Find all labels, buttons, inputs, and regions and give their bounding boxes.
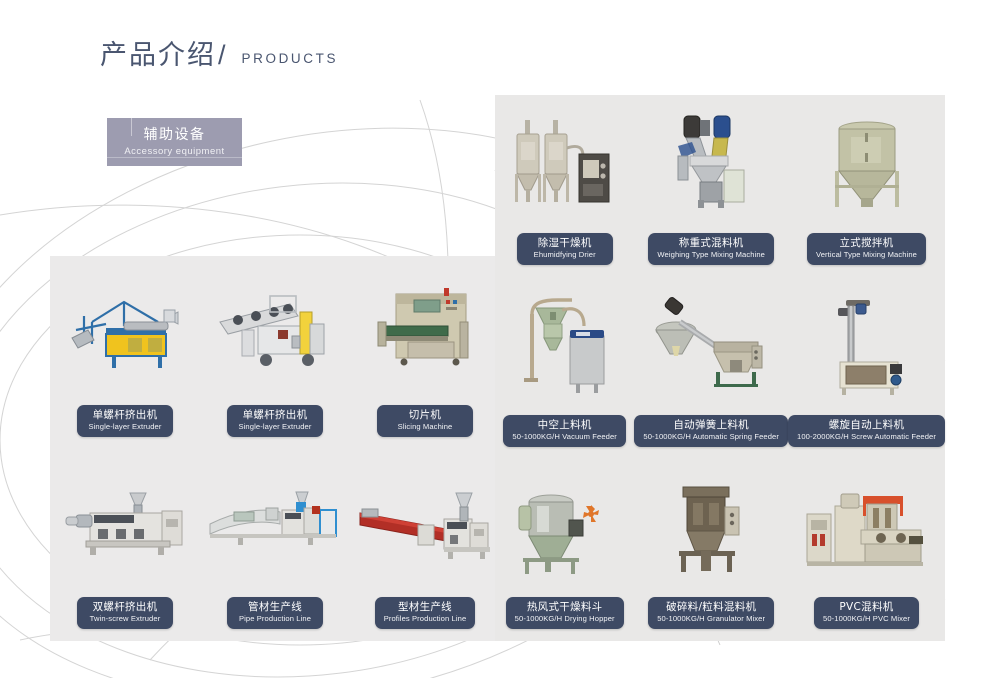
product-name-cn: 型材生产线 xyxy=(384,601,467,613)
product-card[interactable]: PVC混料机 50-1000KG/H PVC Mixer xyxy=(788,459,945,641)
pvc-mixer-icon xyxy=(788,459,945,597)
product-badge[interactable]: 热风式干燥料斗 50-1000KG/H Drying Hopper xyxy=(506,597,624,629)
product-card[interactable]: 破碎料/粒料混料机 50-1000KG/H Granulator Mixer xyxy=(634,459,788,641)
product-name-cn: 双螺杆挤出机 xyxy=(86,601,164,613)
product-badge[interactable]: 切片机 Slicing Machine xyxy=(377,405,473,437)
product-card[interactable]: 自动弹簧上料机 50-1000KG/H Automatic Spring Fee… xyxy=(634,277,788,459)
product-name-cn: 中空上料机 xyxy=(512,419,617,431)
product-name-cn: 立式搅拌机 xyxy=(816,237,917,249)
page-header: 产品介绍 / PRODUCTS xyxy=(100,42,338,69)
spring-feeder-icon xyxy=(634,277,788,415)
category-tag-label-cn: 辅助设备 xyxy=(144,127,206,143)
product-badge[interactable]: 除湿干燥机 Ehumidfying Drier xyxy=(517,233,613,265)
dehumidifying-drier-icon xyxy=(495,95,634,233)
product-name-cn: 破碎料/粒料混料机 xyxy=(657,601,765,613)
product-name-en: 100-2000KG/H Screw Automatic Feeder xyxy=(797,432,936,442)
product-name-cn: 单螺杆挤出机 xyxy=(86,409,164,421)
product-name-cn: 热风式干燥料斗 xyxy=(515,601,615,613)
product-name-en: Vertical Type Mixing Machine xyxy=(816,250,917,260)
product-badge[interactable]: 单螺杆挤出机 Single-layer Extruder xyxy=(227,405,323,437)
page-title-cn: 产品介绍 xyxy=(100,42,216,69)
product-name-cn: 管材生产线 xyxy=(236,601,314,613)
product-badge[interactable]: 单螺杆挤出机 Single-layer Extruder xyxy=(77,405,173,437)
product-card[interactable]: 称重式混料机 Weighing Type Mixing Machine xyxy=(634,95,788,277)
product-name-cn: 单螺杆挤出机 xyxy=(236,409,314,421)
product-catalog-page: 产品介绍 / PRODUCTS 辅助设备 Accessory equipment xyxy=(0,0,1000,678)
product-name-en: Pipe Production Line xyxy=(236,614,314,624)
slicing-machine-icon xyxy=(350,256,500,405)
product-card[interactable]: 除湿干燥机 Ehumidfying Drier xyxy=(495,95,634,277)
granulator-mixer-icon xyxy=(634,459,788,597)
product-badge[interactable]: 管材生产线 Pipe Production Line xyxy=(227,597,323,629)
product-name-en: 50-1000KG/H Granulator Mixer xyxy=(657,614,765,624)
right-product-grid: 除湿干燥机 Ehumidfying Drier xyxy=(495,95,945,641)
product-card[interactable]: 型材生产线 Profiles Production Line xyxy=(350,449,500,642)
product-badge[interactable]: 称重式混料机 Weighing Type Mixing Machine xyxy=(648,233,774,265)
product-name-en: Ehumidfying Drier xyxy=(526,250,604,260)
product-name-cn: 切片机 xyxy=(386,409,464,421)
product-name-en: Slicing Machine xyxy=(386,422,464,432)
product-badge[interactable]: 自动弹簧上料机 50-1000KG/H Automatic Spring Fee… xyxy=(634,415,788,447)
screw-feeder-icon xyxy=(788,277,945,415)
product-badge[interactable]: 双螺杆挤出机 Twin-screw Extruder xyxy=(77,597,173,629)
product-name-en: Profiles Production Line xyxy=(384,614,467,624)
product-name-cn: 自动弹簧上料机 xyxy=(643,419,779,431)
product-badge[interactable]: 型材生产线 Profiles Production Line xyxy=(375,597,476,629)
product-name-en: Single-layer Extruder xyxy=(236,422,314,432)
product-name-en: 50-1000KG/H Automatic Spring Feeder xyxy=(643,432,779,442)
product-name-en: Weighing Type Mixing Machine xyxy=(657,250,765,260)
vertical-mixer-icon xyxy=(788,95,945,233)
extruder-blue-icon xyxy=(50,256,200,405)
product-name-cn: 称重式混料机 xyxy=(657,237,765,249)
pipe-production-line-icon xyxy=(200,449,350,598)
product-card[interactable]: 管材生产线 Pipe Production Line xyxy=(200,449,350,642)
product-name-en: 50-1000KG/H PVC Mixer xyxy=(823,614,910,624)
weighing-mixer-icon xyxy=(634,95,788,233)
product-badge[interactable]: 立式搅拌机 Vertical Type Mixing Machine xyxy=(807,233,926,265)
product-card[interactable]: 单螺杆挤出机 Single-layer Extruder xyxy=(200,256,350,449)
product-name-en: Single-layer Extruder xyxy=(86,422,164,432)
product-name-cn: 螺旋自动上料机 xyxy=(797,419,936,431)
drying-hopper-icon xyxy=(495,459,634,597)
twin-screw-extruder-icon xyxy=(50,449,200,598)
product-card[interactable]: 双螺杆挤出机 Twin-screw Extruder xyxy=(50,449,200,642)
product-card[interactable]: 热风式干燥料斗 50-1000KG/H Drying Hopper xyxy=(495,459,634,641)
profiles-production-line-icon xyxy=(350,449,500,598)
product-badge[interactable]: 中空上料机 50-1000KG/H Vacuum Feeder xyxy=(503,415,626,447)
product-badge[interactable]: 破碎料/粒料混料机 50-1000KG/H Granulator Mixer xyxy=(648,597,774,629)
left-product-grid: 单螺杆挤出机 Single-layer Extruder xyxy=(50,256,500,641)
product-card[interactable]: 切片机 Slicing Machine xyxy=(350,256,500,449)
product-name-en: 50-1000KG/H Vacuum Feeder xyxy=(512,432,617,442)
product-card[interactable]: 螺旋自动上料机 100-2000KG/H Screw Automatic Fee… xyxy=(788,277,945,459)
title-separator: / xyxy=(218,42,226,69)
product-name-cn: 除湿干燥机 xyxy=(526,237,604,249)
product-name-en: 50-1000KG/H Drying Hopper xyxy=(515,614,615,624)
page-title-en: PRODUCTS xyxy=(242,51,339,66)
product-badge[interactable]: 螺旋自动上料机 100-2000KG/H Screw Automatic Fee… xyxy=(788,415,945,447)
category-tag-label-en: Accessory equipment xyxy=(124,146,224,157)
vacuum-feeder-icon xyxy=(495,277,634,415)
product-card[interactable]: 中空上料机 50-1000KG/H Vacuum Feeder xyxy=(495,277,634,459)
extruder-conveyor-icon xyxy=(200,256,350,405)
product-card[interactable]: 立式搅拌机 Vertical Type Mixing Machine xyxy=(788,95,945,277)
category-tag[interactable]: 辅助设备 Accessory equipment xyxy=(107,118,242,166)
product-card[interactable]: 单螺杆挤出机 Single-layer Extruder xyxy=(50,256,200,449)
product-name-cn: PVC混料机 xyxy=(823,601,910,613)
product-name-en: Twin-screw Extruder xyxy=(86,614,164,624)
product-badge[interactable]: PVC混料机 50-1000KG/H PVC Mixer xyxy=(814,597,919,629)
